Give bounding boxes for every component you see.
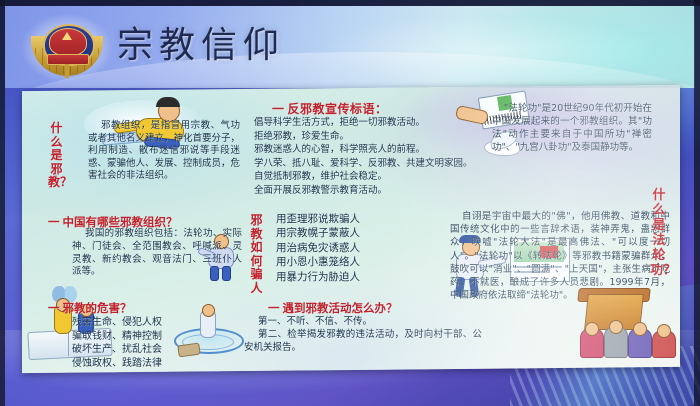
heading-what-to-do-label: 遇到邪教活动怎么办？ [283, 301, 398, 315]
heading-cult-organizations-label: 中国有哪些邪教组织？ [63, 215, 178, 229]
list-item: 自觉抵制邪教，维护社会稳定。 [254, 170, 482, 183]
screen-edge-left [0, 0, 5, 406]
list-item: 用歪理邪说欺骗人 [276, 212, 464, 226]
list-item: 用小恩小惠笼络人 [276, 255, 464, 269]
arrow-marker-icon: 一 [48, 301, 60, 315]
list-item: 第二、检举揭发邪教的违法活动，及时向村干部、公安机关报告。 [244, 328, 482, 354]
list-item: 用治病免灾诱惑人 [276, 241, 464, 255]
poster-board: 什么是邪教？ 邪教组织，是指冒用宗教、气功或者其他名义建立，神化首要分子，利用制… [22, 85, 680, 373]
how-cults-deceive-list: 用歪理邪说欺骗人 用宗教幌子蒙蔽人 用治病免灾诱惑人 用小恩小惠笼络人 用暴力行… [276, 212, 464, 284]
cult-harms-list: 残害生命、侵犯人权 骗取钱财、精神控制 破坏生产、扰乱社会 侵蚀政权、践踏法律 [72, 316, 232, 370]
list-item: 邪教迷惑人的心智，科学照亮人的前程。 [254, 143, 482, 156]
slide-screenshot: 宗教信仰 [0, 0, 700, 406]
arrow-marker-icon: 一 [48, 215, 60, 229]
cult-definition-text: 邪教组织，是指冒用宗教、气功或者其他名义建立，神化首要分子，利用制造、散布迷信邪… [88, 120, 240, 183]
falun-gong-paragraph-2: 自诩是宇宙中最大的"佛"，他用佛教、道教和中国传统文化中的一些言辞术语，装神弄鬼… [450, 210, 670, 302]
list-item: 侵蚀政权、践踏法律 [72, 357, 232, 371]
temple-and-crowd-illustration [578, 294, 680, 364]
heading-cult-harms: 一邪教的危害？ [48, 300, 132, 316]
vertical-label-what-is-cult: 什么是邪教？ [48, 122, 65, 190]
list-item: 残害生命、侵犯人权 [72, 316, 232, 330]
cult-organizations-text: 我国的邪教组织包括：法轮功、实际神、门徒会、全范围教会、呼喊派、灵灵教、新约教会… [72, 228, 242, 279]
vertical-label-how-cults-deceive: 邪教如何骗人 [248, 214, 265, 295]
anti-cult-slogans-list: 倡导科学生活方式，拒绝一切邪教活动。 拒绝邪教，珍爱生命。 邪教迷惑人的心智，科… [254, 116, 482, 197]
arrow-marker-icon: 一 [272, 102, 285, 116]
list-item: 学八荣、抵八耻、爱科学、反邪教、共建文明家园。 [254, 157, 482, 170]
list-item: 第一、不听、不信、不传。 [244, 315, 482, 328]
china-police-emblem-icon [21, 14, 113, 82]
list-item: 骗取钱财、精神控制 [72, 330, 232, 344]
vertical-label-what-is-falun-gong: 什么是法轮功？ [650, 188, 668, 278]
section-falun-gong-detail: 自诩是宇宙中最大的"佛"，他用佛教、道教和中国传统文化中的一些言辞术语，装神弄鬼… [450, 210, 670, 302]
list-item: 拒绝邪教，珍爱生命。 [254, 130, 482, 143]
slide-header-band: 宗教信仰 [5, 6, 695, 88]
list-item: 用宗教幌子蒙蔽人 [276, 226, 464, 240]
heading-anti-cult-slogans: 一反邪教宣传标语： [272, 100, 388, 117]
heading-what-to-do: 一遇到邪教活动怎么办？ [268, 300, 398, 316]
screen-edge-right [694, 0, 700, 406]
page-title: 宗教信仰 [117, 18, 285, 74]
what-to-do-list: 第一、不听、不信、不传。 第二、检举揭发邪教的违法活动，及时向村干部、公安机关报… [244, 315, 482, 354]
screen-edge-top [0, 0, 700, 6]
heading-anti-cult-slogans-label: 反邪教宣传标语： [288, 102, 388, 116]
list-item: 倡导科学生活方式，拒绝一切邪教活动。 [254, 116, 482, 129]
list-item: 破坏生产、扰乱社会 [72, 343, 232, 357]
heading-cult-harms-label: 邪教的危害？ [63, 301, 132, 315]
section-falun-gong-intro: "法轮功"是20世纪90年代初开始在中国发展起来的一个邪教组织。其"功法"动作主… [492, 102, 652, 154]
arrow-marker-icon: 一 [268, 301, 280, 315]
falun-gong-paragraph-1: "法轮功"是20世纪90年代初开始在中国发展起来的一个邪教组织。其"功法"动作主… [492, 102, 652, 154]
list-item: 用暴力行为胁迫人 [276, 270, 464, 284]
list-item: 全面开展反邪教警示教育活动。 [254, 184, 482, 197]
